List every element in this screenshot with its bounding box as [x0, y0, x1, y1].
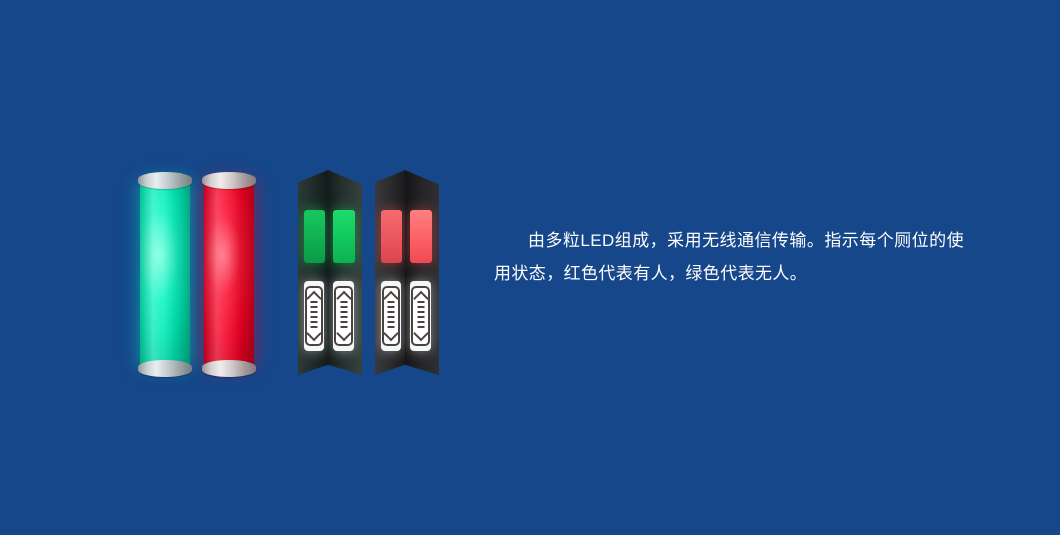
sign-panel — [410, 281, 431, 351]
direction-arrow-icon — [334, 286, 354, 346]
column-face-right — [405, 170, 439, 375]
direction-arrow-icon — [411, 286, 431, 346]
tube-cap-top-icon — [138, 172, 192, 189]
tube-cap-bottom-icon — [138, 360, 192, 377]
product-image-group — [120, 160, 460, 385]
product-description-text: 由多粒LED组成，采用无线通信传输。指示每个厕位的使用状态，红色代表有人，绿色代… — [494, 224, 964, 290]
tube-lamp-green — [140, 178, 190, 370]
column-face-right — [328, 170, 362, 375]
page-root: 由多粒LED组成，采用无线通信传输。指示每个厕位的使用状态，红色代表有人，绿色代… — [0, 0, 1060, 535]
tube-lamp-red — [204, 178, 254, 370]
status-light-panel-red — [381, 210, 402, 263]
tube-light-body-red — [204, 180, 254, 367]
tube-light-body-green — [140, 180, 190, 367]
tube-cap-bottom-icon — [202, 360, 256, 377]
column-face-left — [375, 170, 405, 375]
sign-panel — [304, 281, 324, 351]
direction-arrow-icon — [382, 286, 401, 346]
status-light-panel-red — [410, 210, 432, 263]
column-lamp-green — [298, 170, 362, 375]
column-face-left — [298, 170, 328, 375]
chevron-down-icon — [413, 326, 429, 342]
status-light-panel-green — [304, 210, 325, 263]
tube-cap-top-icon — [202, 172, 256, 189]
chevron-down-icon — [336, 326, 352, 342]
chevron-down-icon — [306, 326, 322, 342]
direction-arrow-icon — [305, 286, 324, 346]
chevron-down-icon — [383, 326, 399, 342]
column-lamp-red — [375, 170, 439, 375]
sign-panel — [333, 281, 354, 351]
sign-panel — [381, 281, 401, 351]
status-light-panel-green — [333, 210, 355, 263]
